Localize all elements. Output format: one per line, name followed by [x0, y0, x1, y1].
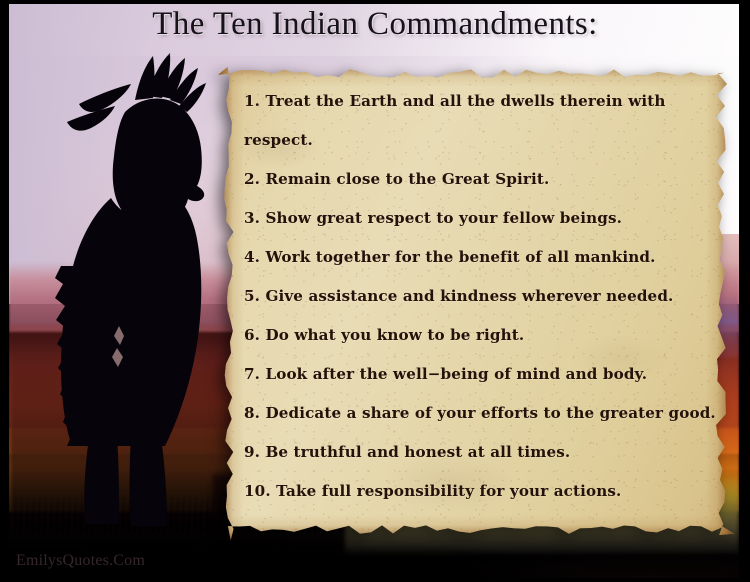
list-item: 3. Show great respect to your fellow bei…	[244, 199, 718, 238]
frame-border-top	[0, 0, 750, 4]
list-item: 4. Work together for the benefit of all …	[244, 238, 718, 277]
list-item: 9. Be truthful and honest at all times.	[244, 433, 718, 472]
list-item: 1. Treat the Earth and all the dwells th…	[244, 82, 718, 160]
list-item: 7. Look after the well−being of mind and…	[244, 355, 718, 394]
list-item: 2. Remain close to the Great Spirit.	[244, 160, 718, 199]
page-title: The Ten Indian Commandments:	[0, 6, 750, 43]
watermark: EmilysQuotes.Com	[16, 552, 145, 570]
frame-border-right	[739, 0, 750, 582]
native-american-silhouette-icon	[15, 26, 245, 536]
list-item: 8. Dedicate a share of your efforts to t…	[244, 394, 718, 433]
frame-border-bottom	[0, 578, 750, 582]
parchment-sheet: 1. Treat the Earth and all the dwells th…	[218, 62, 734, 540]
list-item: 10. Take full responsibility for your ac…	[244, 472, 718, 511]
list-item: 6. Do what you know to be right.	[244, 316, 718, 355]
commandments-list: 1. Treat the Earth and all the dwells th…	[244, 82, 718, 511]
poster: The Ten Indian Commandments: 1. Treat th…	[0, 0, 750, 582]
list-item: 5. Give assistance and kindness wherever…	[244, 277, 718, 316]
frame-border-left	[0, 0, 9, 582]
